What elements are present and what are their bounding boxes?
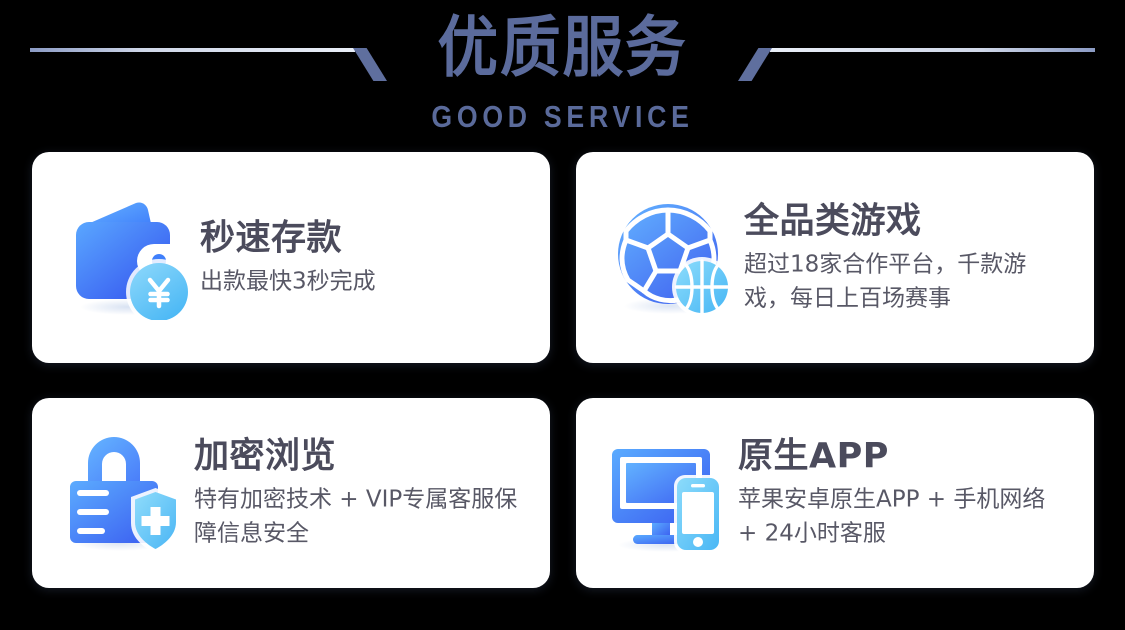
page-title: 优质服务 <box>45 8 1080 88</box>
card-text-block: 原生APP 苹果安卓原生APP + 手机网络 + 24小时客服 <box>738 436 1082 551</box>
card-title: 原生APP <box>738 436 1082 478</box>
page-subtitle: GOOD SERVICE <box>79 99 1047 135</box>
card-text-block: 全品类游戏 超过18家合作平台，千款游戏，每日上百场赛事 <box>744 200 1082 315</box>
card-text-block: 加密浏览 特有加密技术 + VIP专属客服保障信息安全 <box>194 436 538 551</box>
card-title: 加密浏览 <box>194 436 538 478</box>
wallet-icon <box>66 196 190 320</box>
card-title: 秒速存款 <box>200 217 538 259</box>
page-root: 优质服务 GOOD SERVICE <box>0 0 1125 630</box>
card-subtitle: 超过18家合作平台，千款游戏，每日上百场赛事 <box>744 247 1064 315</box>
card-text-block: 秒速存款 出款最快3秒完成 <box>200 217 538 298</box>
feature-card-games[interactable]: 全品类游戏 超过18家合作平台，千款游戏，每日上百场赛事 <box>576 152 1094 363</box>
monitor-phone-icon <box>606 431 730 555</box>
card-subtitle: 特有加密技术 + VIP专属客服保障信息安全 <box>194 483 524 551</box>
feature-card-grid: 秒速存款 出款最快3秒完成 <box>32 152 1094 588</box>
soccer-basketball-icon <box>610 196 734 320</box>
feature-card-deposit[interactable]: 秒速存款 出款最快3秒完成 <box>32 152 550 363</box>
card-subtitle: 苹果安卓原生APP + 手机网络 + 24小时客服 <box>738 483 1058 551</box>
page-header: 优质服务 GOOD SERVICE <box>0 0 1125 148</box>
card-title: 全品类游戏 <box>744 200 1082 242</box>
feature-card-encryption[interactable]: 加密浏览 特有加密技术 + VIP专属客服保障信息安全 <box>32 398 550 588</box>
feature-card-native-app[interactable]: 原生APP 苹果安卓原生APP + 手机网络 + 24小时客服 <box>576 398 1094 588</box>
card-subtitle: 出款最快3秒完成 <box>200 264 530 298</box>
lock-shield-icon <box>62 431 186 555</box>
